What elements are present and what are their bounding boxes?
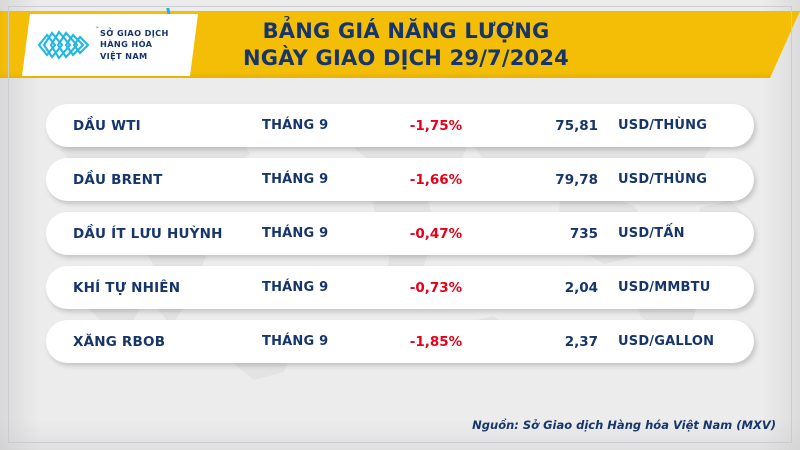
commodity-name: DẦU WTI: [73, 118, 141, 134]
commodity-name: DẦU ÍT LƯU HUỲNH: [73, 226, 223, 242]
contract-month: THÁNG 9: [262, 226, 328, 241]
energy-price-board: ™ SỞ GIAO DỊCH HÀNG HÓA VIỆT NAM BẢNG GI…: [0, 0, 800, 450]
header-banner: ™ SỞ GIAO DỊCH HÀNG HÓA VIỆT NAM BẢNG GI…: [0, 0, 800, 95]
contract-month: THÁNG 9: [262, 118, 328, 133]
contract-month: THÁNG 9: [262, 334, 328, 349]
source-note: Nguồn: Sở Giao dịch Hàng hóa Việt Nam (M…: [472, 418, 776, 432]
price-value: 79,78: [466, 172, 598, 188]
price-value: 735: [466, 226, 598, 242]
price-unit: USD/GALLON: [618, 334, 714, 349]
contract-month: THÁNG 9: [262, 280, 328, 295]
price-unit: USD/THÙNG: [618, 118, 707, 133]
table-row[interactable]: DẦU BRENTTHÁNG 9-1,66%79,78USD/THÙNG: [46, 158, 754, 201]
price-unit: USD/MMBTU: [618, 280, 710, 295]
commodity-name: XĂNG RBOB: [73, 334, 165, 350]
price-value: 2,04: [466, 280, 598, 296]
title-line-1: BẢNG GIÁ NĂNG LƯỢNG: [263, 18, 550, 45]
commodity-name: DẦU BRENT: [73, 172, 163, 188]
price-value: 2,37: [466, 334, 598, 350]
title-line-2: NGÀY GIAO DỊCH 29/7/2024: [243, 45, 569, 72]
table-row[interactable]: DẦU WTITHÁNG 9-1,75%75,81USD/THÙNG: [46, 104, 754, 147]
contract-month: THÁNG 9: [262, 172, 328, 187]
commodity-name: KHÍ TỰ NHIÊN: [73, 280, 180, 296]
table-row[interactable]: KHÍ TỰ NHIÊNTHÁNG 9-0,73%2,04USD/MMBTU: [46, 266, 754, 309]
table-row[interactable]: XĂNG RBOBTHÁNG 9-1,85%2,37USD/GALLON: [46, 320, 754, 363]
price-unit: USD/TẤN: [618, 226, 685, 241]
price-value: 75,81: [466, 118, 598, 134]
price-table: DẦU WTITHÁNG 9-1,75%75,81USD/THÙNGDẦU BR…: [0, 104, 800, 374]
page-title: BẢNG GIÁ NĂNG LƯỢNG NGÀY GIAO DỊCH 29/7/…: [0, 13, 770, 77]
price-unit: USD/THÙNG: [618, 172, 707, 187]
table-row[interactable]: DẦU ÍT LƯU HUỲNHTHÁNG 9-0,47%735USD/TẤN: [46, 212, 754, 255]
